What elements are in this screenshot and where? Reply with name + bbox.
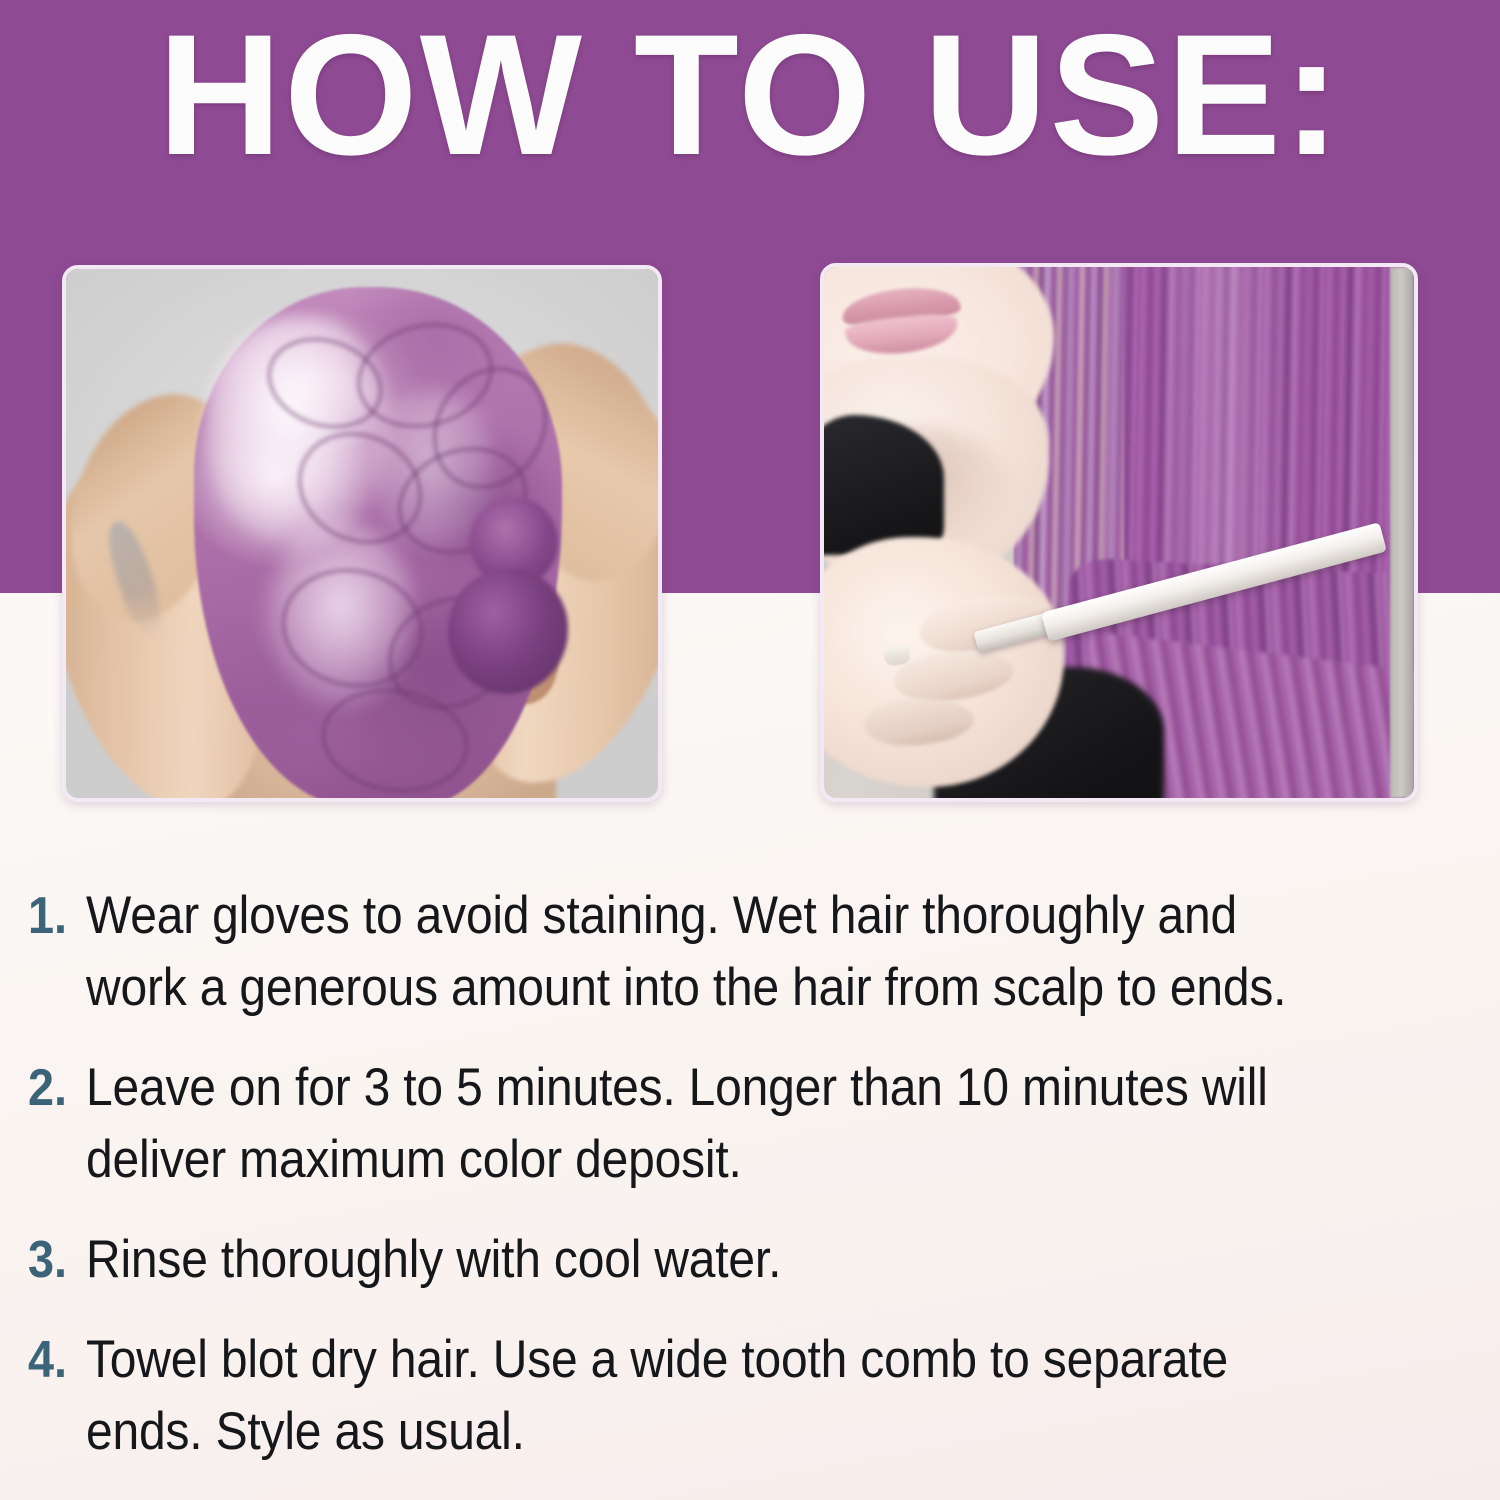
step-text: Wear gloves to avoid staining. Wet hair … <box>86 880 1340 1024</box>
page-title: HOW TO USE: <box>0 8 1500 183</box>
photo-right-edge-strip <box>1390 267 1414 798</box>
step-text: Towel blot dry hair. Use a wide tooth co… <box>86 1324 1340 1468</box>
photo-combing-card <box>820 263 1418 802</box>
step-number: 1. <box>28 880 80 952</box>
step-text: Rinse thoroughly with cool water. <box>86 1224 1340 1296</box>
photo-lathering <box>66 269 658 798</box>
photo-combing <box>824 267 1414 798</box>
instructions-list: 1. Wear gloves to avoid staining. Wet ha… <box>28 880 1472 1496</box>
list-item: 1. Wear gloves to avoid staining. Wet ha… <box>28 880 1472 1024</box>
step-number: 2. <box>28 1052 80 1124</box>
step-number: 3. <box>28 1224 80 1296</box>
list-item: 2. Leave on for 3 to 5 minutes. Longer t… <box>28 1052 1472 1196</box>
list-item: 4. Towel blot dry hair. Use a wide tooth… <box>28 1324 1472 1468</box>
list-item: 3. Rinse thoroughly with cool water. <box>28 1224 1472 1296</box>
hair-knot-lower <box>448 569 568 694</box>
photo-lathering-card <box>62 265 662 802</box>
step-text: Leave on for 3 to 5 minutes. Longer than… <box>86 1052 1340 1196</box>
step-number: 4. <box>28 1324 80 1396</box>
how-to-use-infographic: HOW TO USE: <box>0 0 1500 1500</box>
